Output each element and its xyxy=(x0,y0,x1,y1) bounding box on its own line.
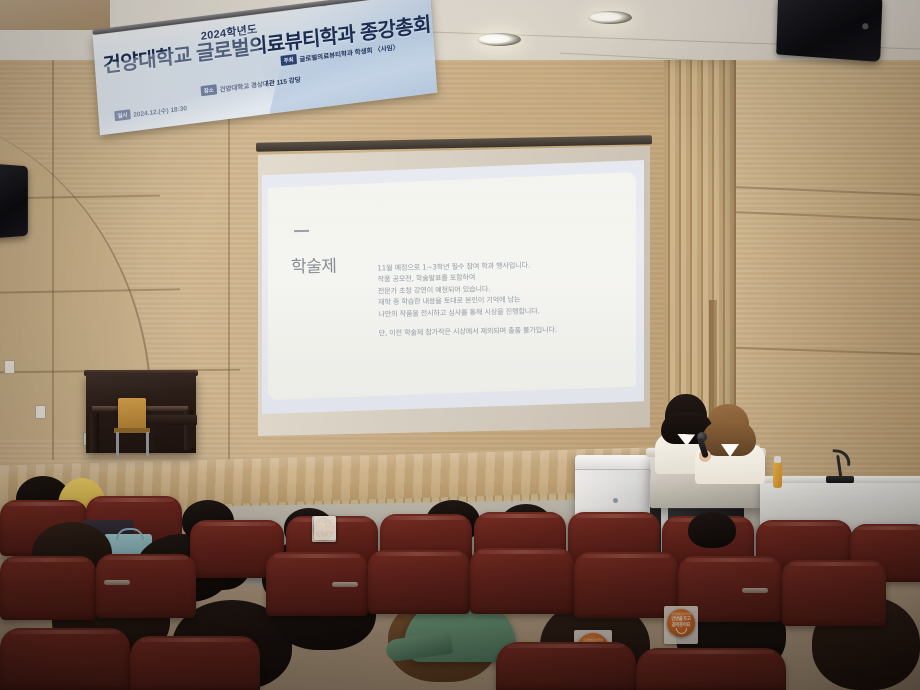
banner-meta-value: 2024.12.(수) 18:30 xyxy=(133,102,187,119)
auditorium-seat xyxy=(368,550,470,614)
banner-cloth: 2024학년도 건양대학교 글로벌의료뷰티학과 종강총회 일시 2024.12.… xyxy=(93,0,438,135)
chair-seat xyxy=(114,428,150,433)
chair-leg xyxy=(116,432,119,456)
drink-bottle xyxy=(773,462,782,488)
auditorium-seat xyxy=(0,556,96,620)
power-outlet xyxy=(4,360,15,374)
slide-body-line: 나만의 작품을 전시하고 심사를 통해 시상을 진행합니다. xyxy=(378,306,540,318)
seat-armrest-cap xyxy=(104,580,130,585)
ceiling-soffit xyxy=(0,0,110,30)
slide-body-line: 11월 예정으로 1~3학년 필수 참여 학과 행사입니다. xyxy=(377,260,530,272)
sticker-main-line2: 같이웃어요 xyxy=(672,622,690,627)
smile-icon xyxy=(676,628,687,634)
banner-meta-value: 건양대학교 경상대관 115 강당 xyxy=(219,74,301,94)
auditorium-seat xyxy=(496,642,636,690)
wall-seam xyxy=(52,60,54,460)
seat-sticker: 글로벌의료뷰티학과 안녕을 두고 같이웃어요 xyxy=(667,609,695,637)
banner-meta-tag: 주최 xyxy=(280,54,296,66)
slide-body-line: 작품 공모전, 학술발표를 포함하여 xyxy=(378,273,476,284)
piano-leg xyxy=(90,413,99,453)
chair-leg xyxy=(146,432,149,456)
slide-body: 11월 예정으로 1~3학년 필수 참여 학과 행사입니다. 작품 공모전, 학… xyxy=(377,257,628,339)
auditorium-seat xyxy=(574,552,678,618)
presenter-right xyxy=(697,404,765,476)
banner-meta-tag: 일시 xyxy=(114,109,130,121)
cabinet-lid xyxy=(575,455,655,470)
bench-leg xyxy=(150,424,155,450)
wall-seam xyxy=(228,110,230,460)
banner-meta-datetime: 일시 2024.12.(수) 18:30 xyxy=(114,102,187,121)
seat-sticker-card: 글로벌의료뷰티학과 안녕을 두고 같이웃어요 xyxy=(664,606,698,644)
seat-sticker-card xyxy=(314,516,336,540)
slide-body-line: 전문가 초청 강연이 예정되어 있습니다. xyxy=(378,284,491,295)
auditorium-seat xyxy=(0,628,130,690)
spotlight-icon xyxy=(588,11,632,24)
wall-speaker-icon xyxy=(0,164,28,239)
event-banner: 2024학년도 건양대학교 글로벌의료뷰티학과 종강총회 일시 2024.12.… xyxy=(95,14,435,134)
auditorium-seat xyxy=(636,648,786,690)
bottle-cap xyxy=(774,456,781,463)
slide-dash-rule xyxy=(294,230,309,232)
auditorium-seat xyxy=(130,636,260,690)
wooden-chair xyxy=(118,398,146,430)
cabinet-lock-icon xyxy=(613,498,618,503)
audience-head xyxy=(688,512,736,548)
auditorium-seat xyxy=(782,560,886,626)
spotlight-icon xyxy=(477,33,521,46)
seat-armrest-cap xyxy=(742,588,768,593)
banner-meta-tag: 장소 xyxy=(201,84,217,96)
seat-armrest-cap xyxy=(332,582,358,587)
auditorium-photo: 2024학년도 건양대학교 글로벌의료뷰티학과 종강총회 일시 2024.12.… xyxy=(0,0,920,690)
slide-body-line: 재학 중 학습한 내용을 토대로 본인이 기억에 남는 xyxy=(378,295,520,307)
banner-meta-location: 장소 건양대학교 경상대관 115 강당 xyxy=(201,74,301,97)
bench-leg xyxy=(190,422,195,448)
gooseneck-mic-base xyxy=(826,476,854,483)
slide-note: 단, 이전 학술제 참가작은 시상에서 제외되며 출품 불가입니다. xyxy=(379,325,558,338)
slide-title: 학술제 xyxy=(291,252,337,278)
wall-speaker-icon xyxy=(776,0,882,62)
power-outlet xyxy=(35,405,46,419)
auditorium-seat xyxy=(96,554,196,618)
banner-year: 2024학년도 xyxy=(200,21,258,44)
auditorium-seat xyxy=(470,548,574,614)
